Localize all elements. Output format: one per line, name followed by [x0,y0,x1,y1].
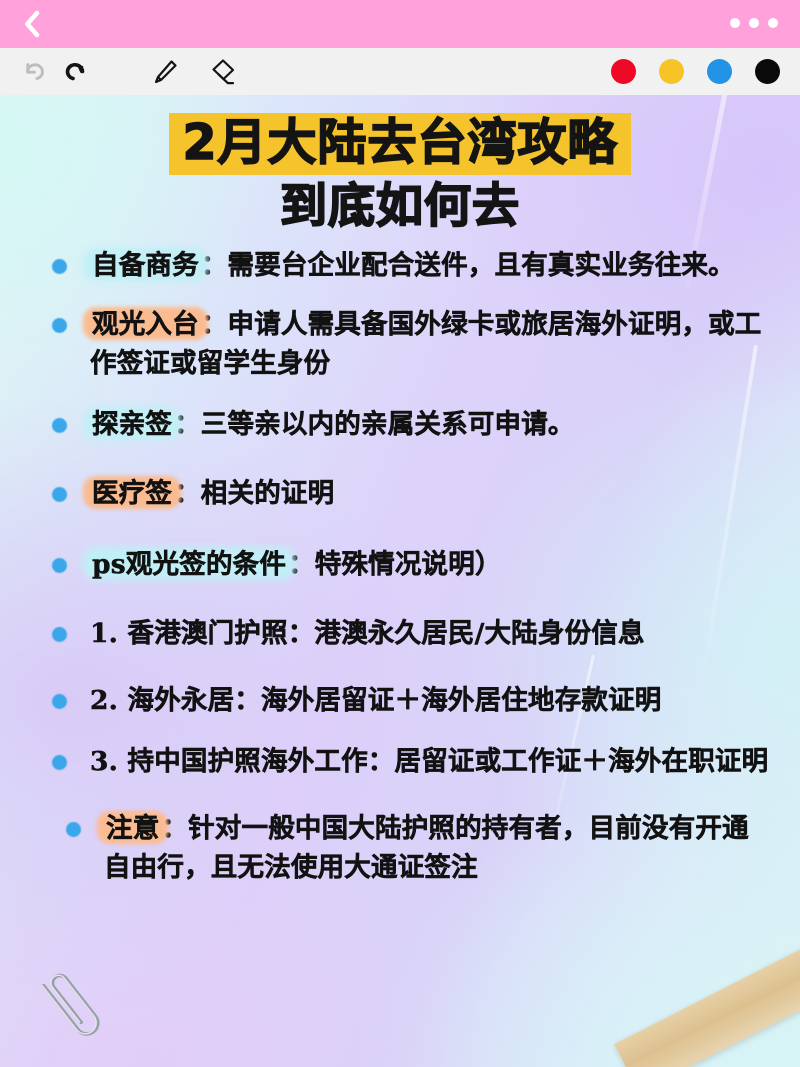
list-item-text: ps观光签的条件：特殊情况说明） [90,546,774,585]
list-item-body: ：特殊情况说明） [288,549,502,580]
list-item: 观光入台：申请人需具备国外绿卡或旅居海外证明，或工作签证或留学生身份 [44,306,774,384]
list-item-body: ：相关的证明 [174,478,334,509]
color-swatch-black[interactable] [755,59,780,84]
bullet-dot-icon [66,822,81,837]
note-title-block: 2月大陆去台湾攻略 到底如何去 [0,113,800,232]
undo-icon [19,58,47,86]
note-bullet-list: 自备商务：需要台企业配合送件，且有真实业务往来。 观光入台：申请人需具备国外绿卡… [44,247,774,887]
navbar [0,0,800,48]
list-item-text: 注意：针对一般中国大陆护照的持有者，目前没有开通自由行，且无法使用大通证签注 [104,810,774,888]
list-item-keyword: 自备商务 [90,250,201,281]
list-item: 医疗签：相关的证明 [44,475,774,514]
note-canvas[interactable]: 2月大陆去台湾攻略 到底如何去 自备商务：需要台企业配合送件，且有真实业务往来。… [0,95,800,1067]
bullet-dot-icon [52,627,67,642]
list-item-text: 3. 持中国护照海外工作：居留证或工作证＋海外在职证明 [90,743,774,782]
list-item: 2. 海外永居：海外居留证＋海外居住地存款证明 [44,682,774,721]
bullet-dot-icon [52,755,67,770]
list-item-keyword: 观光入台 [90,309,201,340]
list-item-body: ：需要台企业配合送件，且有真实业务往来。 [201,250,735,281]
color-swatch-red[interactable] [611,59,636,84]
undo-button[interactable] [16,55,50,89]
bullet-dot-icon [52,418,67,433]
bullet-dot-icon [52,318,67,333]
color-swatch-yellow[interactable] [659,59,684,84]
more-options-button[interactable] [730,18,778,28]
list-item: 3. 持中国护照海外工作：居留证或工作证＋海外在职证明 [44,743,774,782]
more-dots-icon [730,18,740,28]
list-item: 自备商务：需要台企业配合送件，且有真实业务往来。 [44,247,774,286]
list-item-text: 观光入台：申请人需具备国外绿卡或旅居海外证明，或工作签证或留学生身份 [90,306,774,384]
color-palette [611,59,780,84]
eraser-tool-button[interactable] [204,55,238,89]
list-item-keyword: 注意 [104,813,161,844]
list-item-body: ：三等亲以内的亲属关系可申请。 [174,409,575,440]
list-item-text: 医疗签：相关的证明 [90,475,774,514]
bullet-dot-icon [52,558,67,573]
list-item: 1. 香港澳门护照：港澳永久居民/大陆身份信息 [44,615,774,654]
list-item-text: 自备商务：需要台企业配合送件，且有真实业务往来。 [90,247,774,286]
paperclip-decoration [22,953,126,1057]
redo-button[interactable] [60,55,94,89]
list-item: 探亲签：三等亲以内的亲属关系可申请。 [44,406,774,445]
bullet-dot-icon [52,487,67,502]
chevron-left-icon [21,10,41,38]
list-item-keyword: ps观光签的条件 [90,549,288,580]
page-title: 2月大陆去台湾攻略 [169,113,630,175]
eraser-icon [206,57,236,87]
list-item-text: 2. 海外永居：海外居留证＋海外居住地存款证明 [90,682,774,721]
page-subtitle: 到底如何去 [0,182,800,231]
more-dots-icon [749,18,759,28]
list-item-body: ：针对一般中国大陆护照的持有者，目前没有开通自由行，且无法使用大通证签注 [104,813,749,883]
more-dots-icon [768,18,778,28]
list-item-text: 1. 香港澳门护照：港澳永久居民/大陆身份信息 [90,615,774,654]
list-item: 注意：针对一般中国大陆护照的持有者，目前没有开通自由行，且无法使用大通证签注 [44,810,774,888]
list-item-keyword: 医疗签 [90,478,174,509]
list-item: ps观光签的条件：特殊情况说明） [44,546,774,585]
drawing-toolbar [0,48,800,95]
pencil-tool-button[interactable] [148,55,182,89]
washi-tape-decoration [614,940,800,1067]
color-swatch-blue[interactable] [707,59,732,84]
bullet-dot-icon [52,259,67,274]
note-editor-screen: 2月大陆去台湾攻略 到底如何去 自备商务：需要台企业配合送件，且有真实业务往来。… [0,0,800,1067]
bullet-dot-icon [52,694,67,709]
redo-icon [63,58,91,86]
list-item-text: 探亲签：三等亲以内的亲属关系可申请。 [90,406,774,445]
list-item-keyword: 探亲签 [90,409,174,440]
pencil-icon [150,57,180,87]
back-button[interactable] [14,7,48,41]
